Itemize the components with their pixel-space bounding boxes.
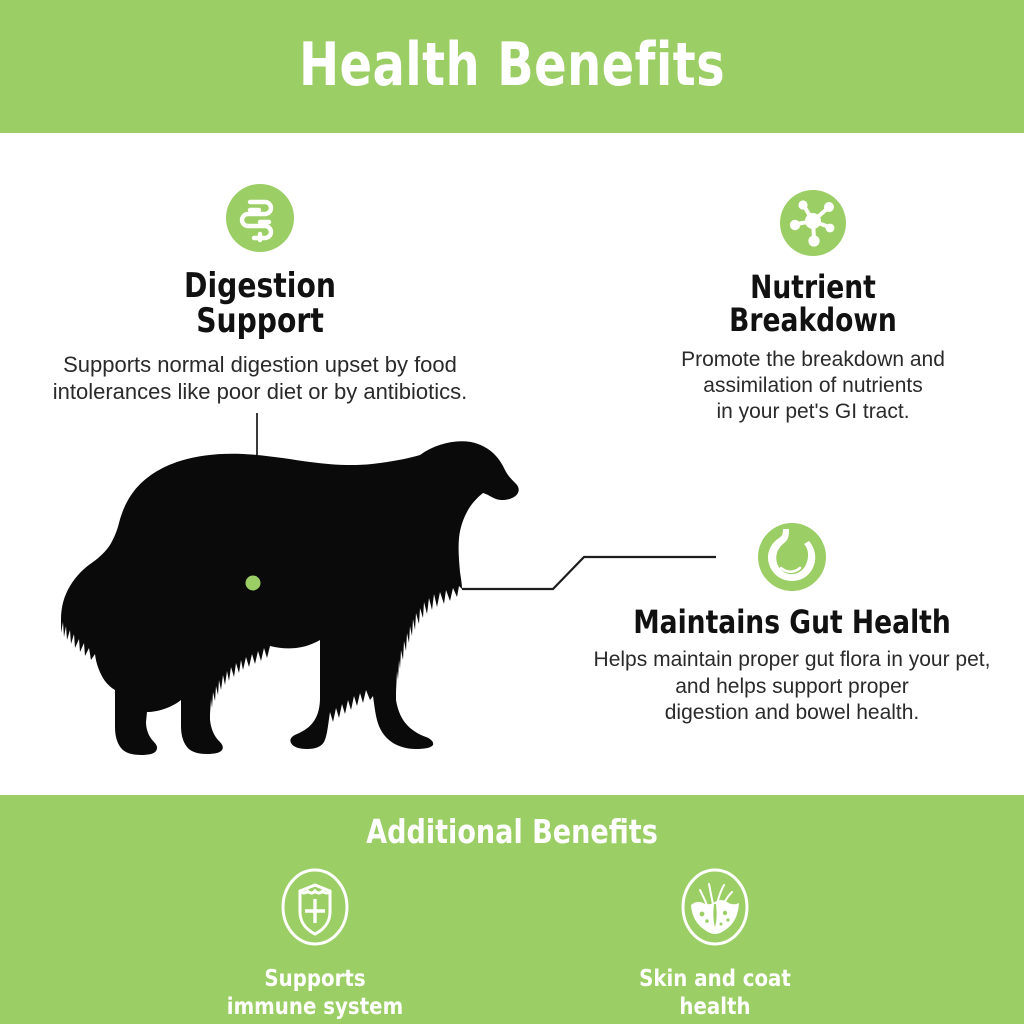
benefit-card-nutrient: Nutrient Breakdown Promote the breakdown… [614,190,1012,426]
molecule-icon [614,190,1012,261]
benefit-heading-gut: Maintains Gut Health [604,606,979,639]
footer-title: Additional Benefits [92,812,932,851]
additional-benefit-immune: Supports immune system [195,868,435,1021]
benefit-body-nutrient: Promote the breakdown and assimilation o… [614,347,1012,426]
green-dot-marker [246,576,261,591]
benefit-heading-nutrient: Nutrient Breakdown [648,271,978,338]
stomach-icon [566,523,1018,596]
dog-silhouette [61,441,519,755]
benefit-card-digestion: Digestion Support Supports normal digest… [10,184,510,406]
additional-benefit-skin: Skin and coat health [595,868,835,1021]
additional-benefit-label-skin: Skin and coat health [612,965,818,1021]
intestine-icon [10,184,510,257]
additional-benefit-label-immune: Supports immune system [212,965,418,1021]
benefit-body-gut: Helps maintain proper gut flora in your … [566,647,1018,726]
page-title: Health Benefits [102,34,921,97]
benefit-body-digestion: Supports normal digestion upset by food … [10,351,510,406]
skin-follicle-icon [680,933,750,950]
shield-cross-icon [280,933,350,950]
benefit-heading-digestion: Digestion Support [53,269,468,340]
benefit-card-gut: Maintains Gut Health Helps maintain prop… [566,523,1018,727]
infographic-page: Health Benefits Digestion Support Suppor… [0,0,1024,1024]
